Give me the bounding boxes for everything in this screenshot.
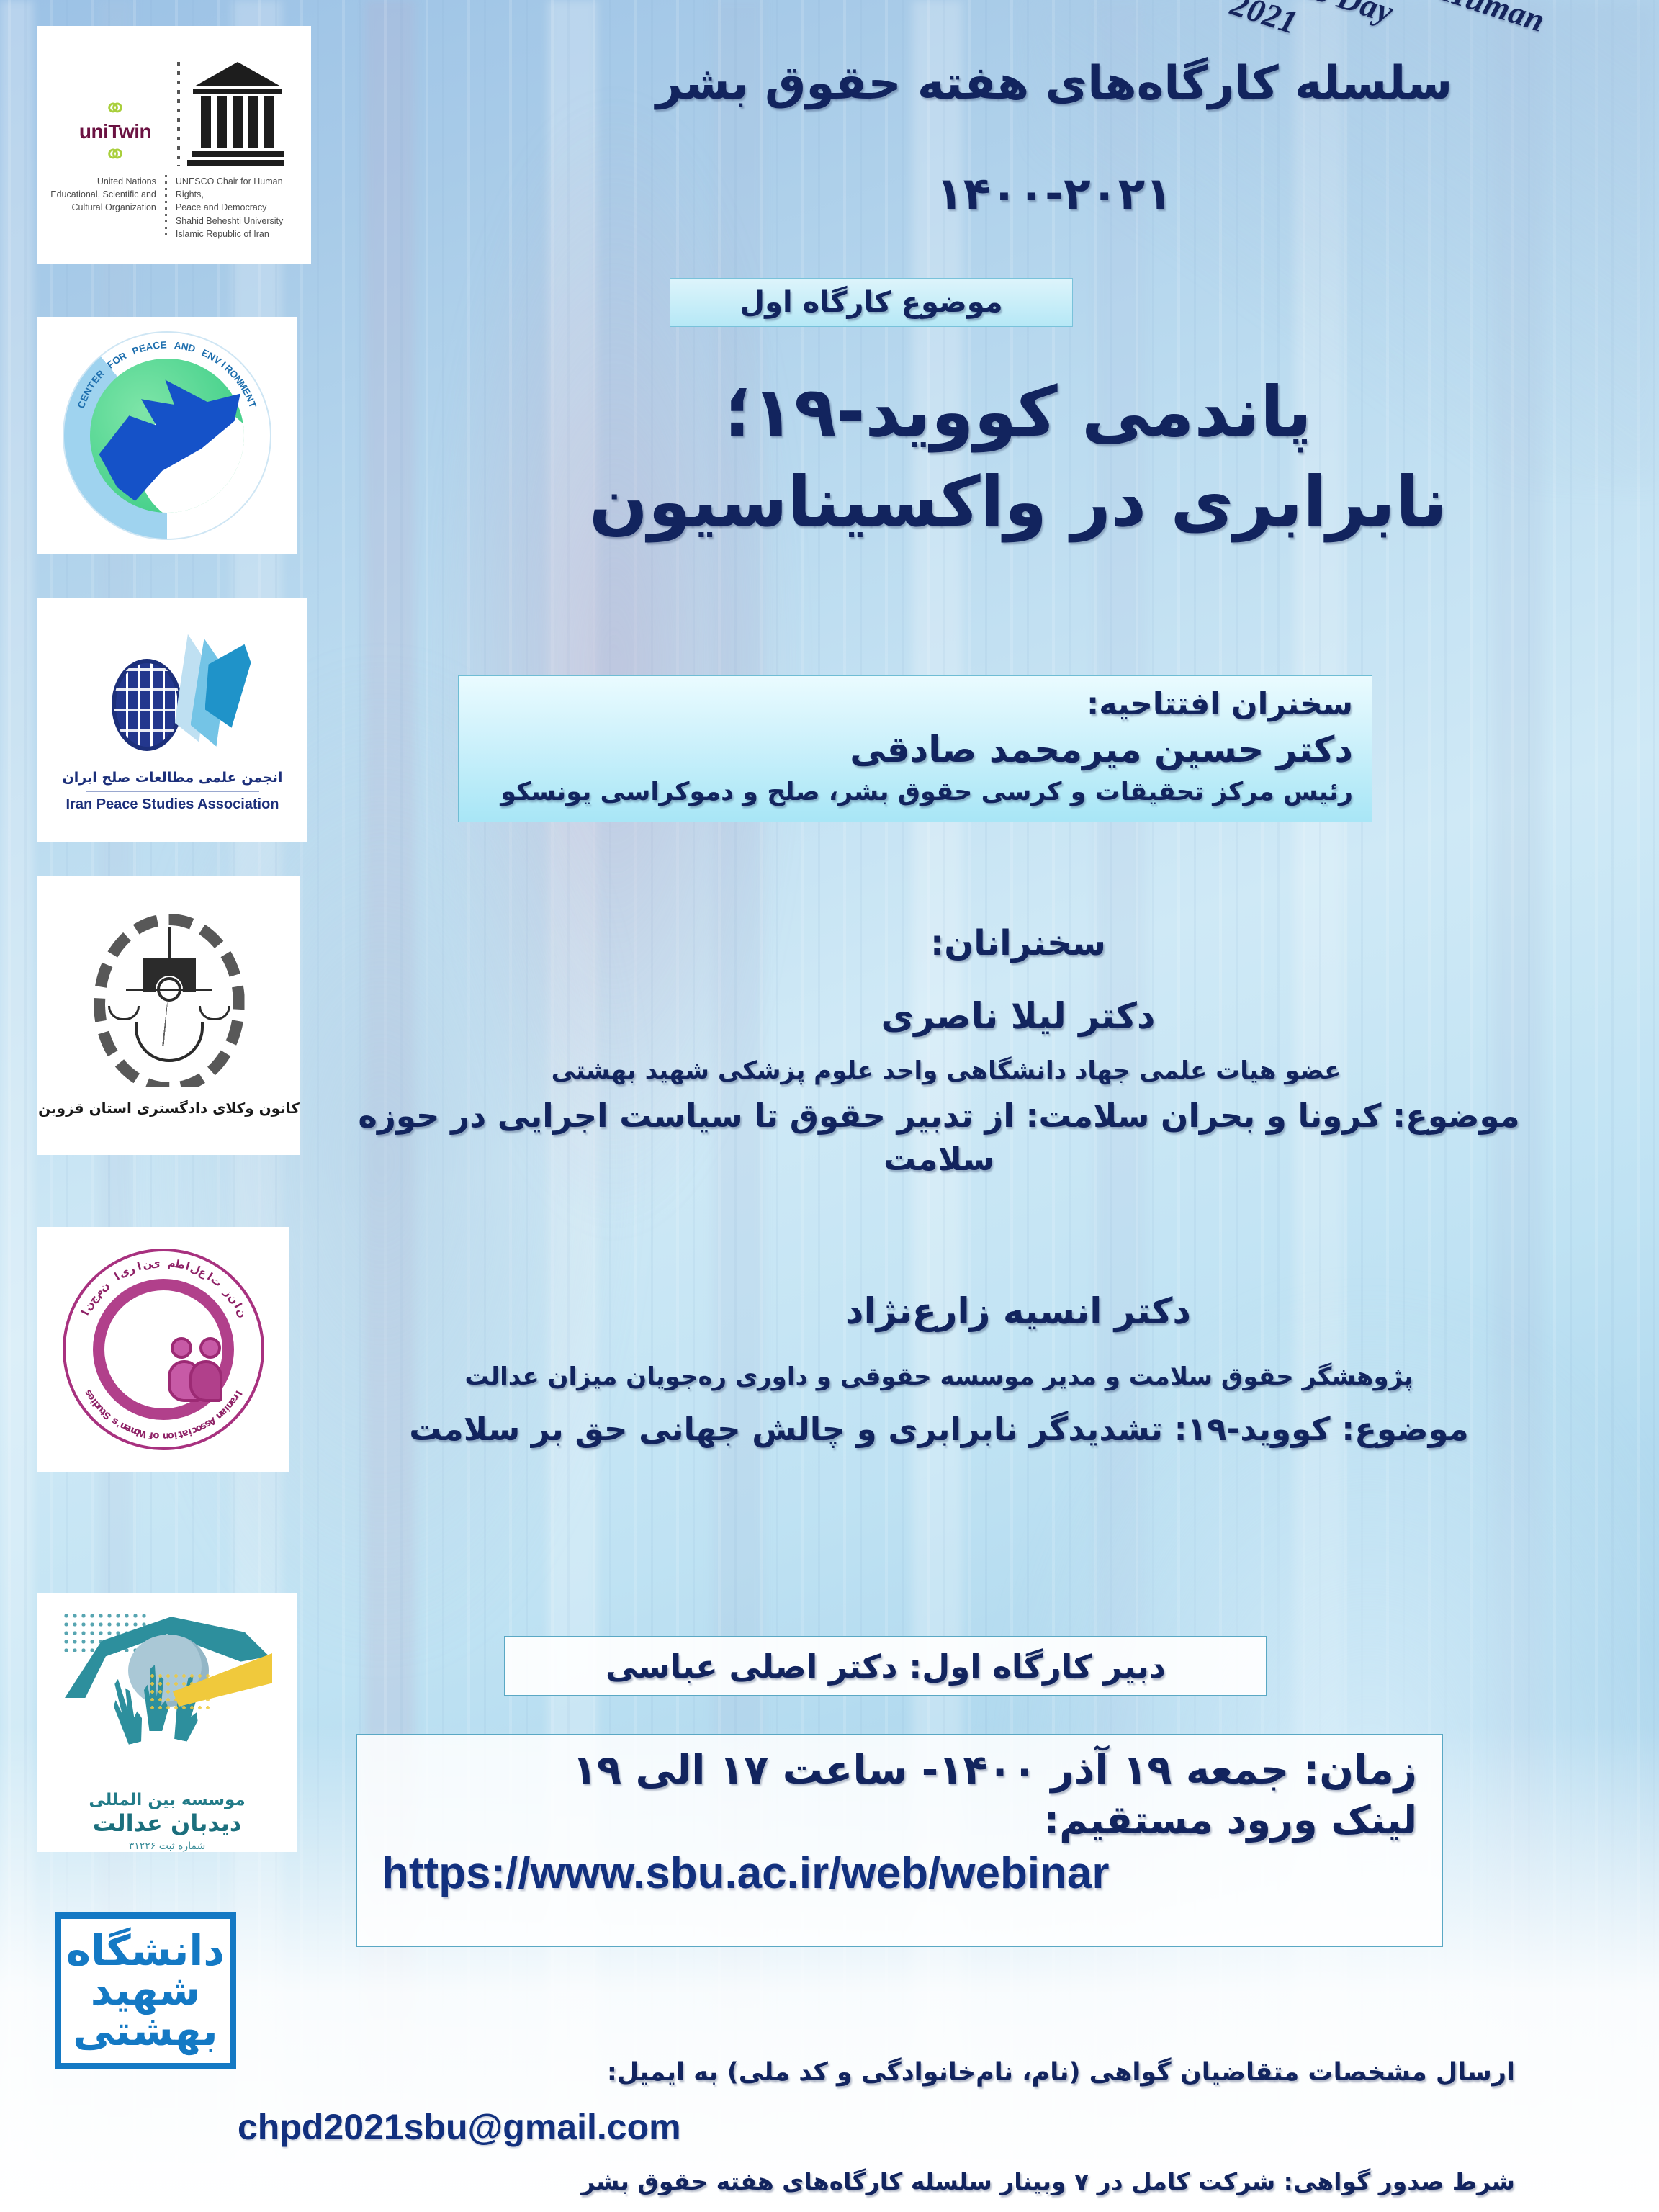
sbu-name-fa: دانشگاه شهید بهشتی	[61, 1931, 230, 2050]
speaker-2-name: دکتر انسیه زارع‌نژاد	[521, 1289, 1515, 1334]
opening-speaker-affiliation: رئیس مرکز تحقیقات و کرسی حقوق بشر، صلح و…	[477, 776, 1353, 809]
iaw-two-figures-icon	[168, 1337, 256, 1426]
logo-didban-edalat: موسسه بین المللی دیدبان عدالت شماره ثبت …	[37, 1593, 297, 1852]
didban-line-2: دیدبان عدالت	[93, 1809, 242, 1837]
unesco-caption-divider	[165, 175, 167, 240]
logo-shahid-beheshti-university: دانشگاه شهید بهشتی	[37, 1901, 253, 2081]
event-date-time: زمان: جمعه ۱۹ آذر ۱۴۰۰- ساعت ۱۷ الی ۱۹	[382, 1745, 1417, 1796]
logo-unesco: ⚭ uniTwin ⚭ United Nations Educational, …	[37, 26, 311, 264]
opening-speaker-box: سخنران افتتاحیه: دکتر حسین میرمحمد صادقی…	[458, 675, 1372, 822]
series-years: ۱۴۰۰-۲۰۲۱	[579, 167, 1529, 220]
unesco-dotted-divider	[177, 62, 180, 166]
speaker-1-topic: موضوع: کرونا و بحران سلامت: از تدبیر حقو…	[334, 1094, 1544, 1182]
unesco-caption-right: UNESCO Chair for Human Rights, Peace and…	[176, 175, 304, 240]
logo-center-peace-environment: CENTER FOR PEACE AND ENVIRONMENT	[37, 317, 297, 554]
didban-registration-number: شماره ثبت ۳۱۲۲۶	[129, 1840, 206, 1852]
contact-email[interactable]: chpd2021sbu@gmail.com	[238, 2106, 681, 2148]
page-title: پاندمی کووید-۱۹؛ نابرابری در واکسیناسیون	[521, 367, 1515, 547]
didban-line-1: موسسه بین المللی	[89, 1791, 245, 1809]
webinar-link[interactable]: https://www.sbu.ac.ir/web/webinar	[382, 1848, 1417, 1899]
workshop-secretary-label: دبیر کارگاه اول: دکتر اصلی عباسی	[606, 1647, 1166, 1686]
series-title: سلسله کارگاه‌های هفته حقوق بشر	[579, 55, 1529, 114]
certificate-condition-note: شرط صدور گواهی: شرکت کامل در ۷ وبینار سل…	[147, 2167, 1515, 2195]
speaker-1-affiliation: عضو هیات علمی جهاد دانشگاهی واحد علوم پز…	[334, 1055, 1558, 1087]
unesco-temple-icon	[192, 62, 284, 166]
ipsa-name-fa: انجمن علمی مطالعات صلح ایران	[63, 770, 283, 786]
logo-iran-peace-studies: انجمن علمی مطالعات صلح ایران Iran Peace …	[37, 598, 307, 842]
didban-eye-hands-globe-icon	[59, 1593, 275, 1788]
workshop-topic-badge-label: موضوع کارگاه اول	[739, 286, 1002, 319]
ipsa-divider	[86, 791, 259, 793]
poster-canvas: International Human Rights Day 2021 سلسل…	[0, 0, 1659, 2212]
sbu-calligraphy-icon: دانشگاه شهید بهشتی	[55, 1912, 236, 2069]
speaker-2-affiliation: پژوهشگر حقوق سلامت و مدیر موسسه حقوقی و …	[305, 1361, 1573, 1393]
logo-iranian-association-womens-studies: انجمن ایرانی مطالعات زنان Iranian Associ…	[37, 1227, 289, 1472]
workshop-secretary-box: دبیر کارگاه اول: دکتر اصلی عباسی	[504, 1636, 1267, 1696]
opening-speaker-name: دکتر حسین میرمحمد صادقی	[477, 727, 1353, 773]
speaker-2-topic: موضوع: کووید-۱۹: تشدیدگر نابرابری و چالش…	[305, 1408, 1573, 1451]
workshop-topic-badge: موضوع کارگاه اول	[670, 278, 1073, 327]
ipsa-name-en: Iran Peace Studies Association	[66, 796, 279, 813]
opening-speaker-label: سخنران افتتاحیه:	[477, 685, 1353, 724]
ipsa-globe-wings-icon	[90, 631, 256, 768]
certificate-request-note: ارسال مشخصات متقاضیان گواهی (نام، نام‌خا…	[147, 2058, 1515, 2087]
unitwin-icon: ⚭ uniTwin ⚭	[65, 97, 166, 166]
qazvin-scales-wreath-icon	[94, 914, 245, 1094]
schedule-box: زمان: جمعه ۱۹ آذر ۱۴۰۰- ساعت ۱۷ الی ۱۹ ل…	[356, 1734, 1443, 1947]
logo-qazvin-bar-association: کانون وکلای دادگستری استان قزوین	[37, 876, 300, 1155]
unesco-caption-left: United Nations Educational, Scientific a…	[45, 175, 156, 240]
qazvin-name-fa: کانون وکلای دادگستری استان قزوین	[38, 1100, 300, 1117]
direct-link-label: لینک ورود مستقیم:	[382, 1796, 1417, 1845]
speaker-1-name: دکتر لیلا ناصری	[521, 994, 1515, 1039]
speakers-heading: سخنرانان:	[521, 923, 1515, 963]
